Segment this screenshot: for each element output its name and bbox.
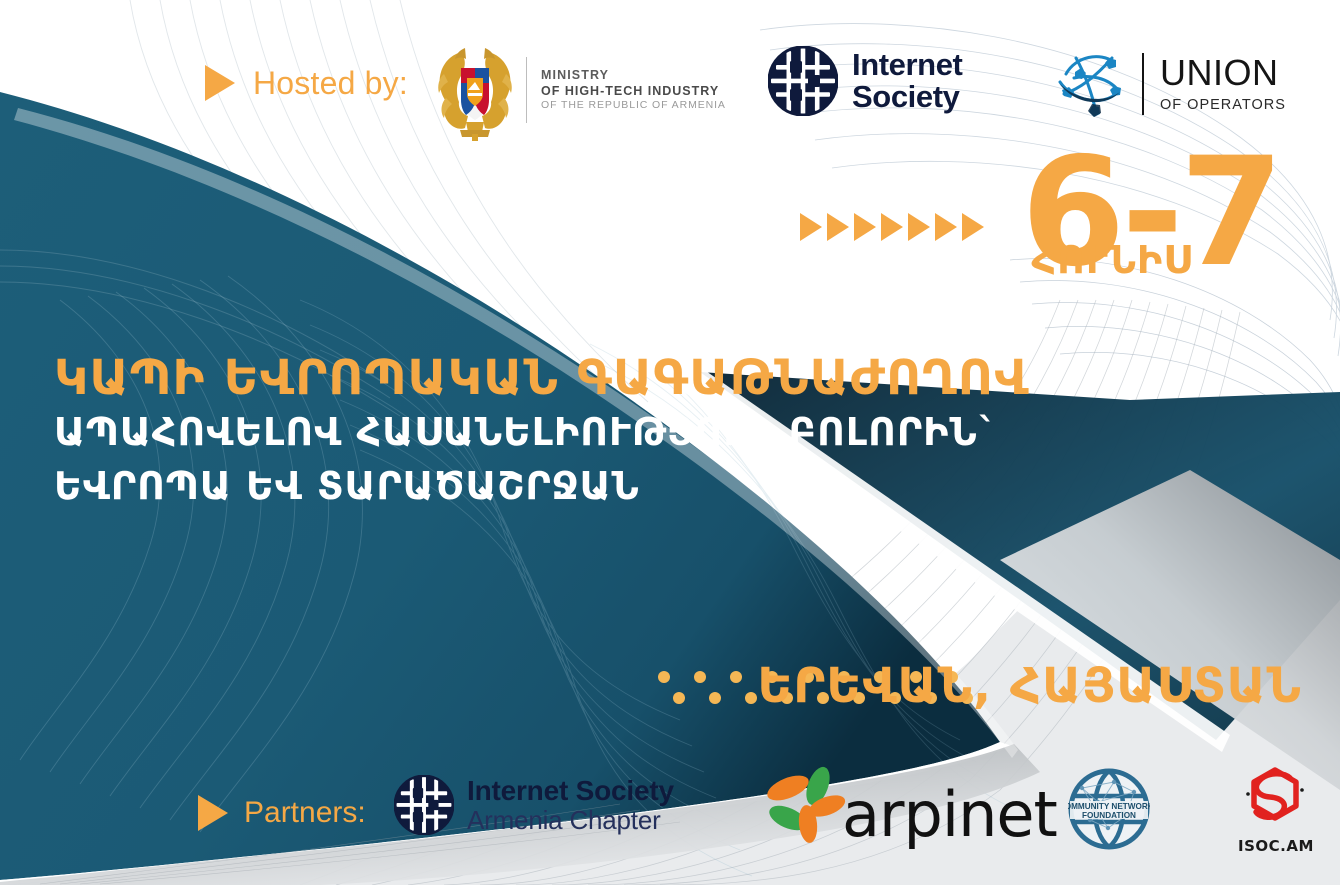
union-line-2: OF OPERATORS	[1160, 98, 1286, 113]
chapter-line-2: Armenia Chapter	[467, 806, 674, 835]
isoc-am-logo: ISOC.AM	[1238, 766, 1314, 855]
arpinet-logo: arpinet	[762, 766, 1057, 848]
event-date-block: 6-7 ՀՈՒՆԻՍ	[1021, 150, 1280, 276]
flower-petals-icon	[762, 766, 848, 848]
arrow-icon	[881, 213, 903, 241]
arrow-strip	[800, 213, 984, 241]
cnf-line-1: COMMUNITY NETWORKS	[1068, 802, 1150, 811]
dot	[709, 692, 721, 704]
isoc-armenia-text: Internet Society Armenia Chapter	[467, 776, 674, 834]
triangle-icon	[205, 65, 235, 101]
arrow-icon	[962, 213, 984, 241]
armenia-coat-of-arms-icon	[432, 38, 518, 142]
partners-label: Partners:	[244, 796, 366, 830]
headline-line-2: ԱՊԱՀՈՎԵԼՈՎ ՀԱՍԱՆԵԼԻՈՒԹՅՈՒՆ ԲՈԼՈՐԻՆ`	[54, 406, 1030, 460]
isoc-armenia-chapter-logo: Internet Society Armenia Chapter	[394, 775, 674, 835]
globe-icon	[394, 775, 454, 835]
ministry-line-1: MINISTRY	[541, 67, 726, 83]
isoc-am-label: ISOC.AM	[1238, 837, 1314, 855]
union-text: UNION OF OPERATORS	[1160, 55, 1286, 113]
globe-network-icon: COMMUNITY NETWORKS FOUNDATION	[1068, 768, 1150, 850]
event-month: ՀՈՒՆԻՍ	[1031, 238, 1192, 282]
isoc-line-1: Internet	[852, 49, 962, 81]
arrow-icon	[854, 213, 876, 241]
ministry-line-2: OF HIGH-TECH INDUSTRY	[541, 83, 726, 99]
internet-society-logo-block: Internet Society	[768, 46, 962, 116]
dot	[658, 671, 670, 683]
community-networks-foundation-logo: COMMUNITY NETWORKS FOUNDATION	[1068, 768, 1150, 855]
chapter-line-1: Internet Society	[467, 776, 674, 806]
headline-line-1: ԿԱՊԻ ԵՎՐՈՊԱԿԱՆ ԳԱԳԱԹՆԱԺՈՂՈՎ	[54, 352, 1030, 406]
arrow-icon	[827, 213, 849, 241]
ministry-text: MINISTRY OF HIGH-TECH INDUSTRY OF THE RE…	[541, 67, 726, 112]
globe-icon	[768, 46, 838, 116]
hosted-by-label: Hosted by:	[253, 65, 408, 102]
triangle-icon	[198, 795, 228, 831]
union-of-operators-logo-block: UNION OF OPERATORS	[1052, 48, 1286, 120]
ministry-line-3: OF THE REPUBLIC OF ARMENIA	[541, 99, 726, 112]
headline-block: ԿԱՊԻ ԵՎՐՈՊԱԿԱՆ ԳԱԳԱԹՆԱԺՈՂՈՎ ԱՊԱՀՈՎԵԼՈՎ Հ…	[54, 352, 1030, 514]
event-location: ԵՐԵՎԱՆ, ՀԱՅԱՍՏԱՆ	[757, 658, 1302, 714]
internet-society-text: Internet Society	[852, 49, 962, 112]
s-hexagon-icon	[1244, 766, 1308, 828]
hosted-by-row: Hosted by:	[205, 52, 408, 114]
arrow-icon	[935, 213, 957, 241]
divider	[526, 57, 527, 123]
partners-row: Partners:	[198, 785, 366, 841]
isoc-line-2: Society	[852, 81, 962, 113]
arrow-icon	[908, 213, 930, 241]
union-line-1: UNION	[1160, 55, 1286, 91]
ministry-logo-block: MINISTRY OF HIGH-TECH INDUSTRY OF THE RE…	[432, 38, 726, 142]
cnf-line-2: FOUNDATION	[1082, 811, 1136, 820]
network-nodes-icon	[1052, 48, 1130, 120]
dot	[694, 671, 706, 683]
dot	[745, 692, 757, 704]
poster-canvas: Hosted by:	[0, 0, 1340, 885]
arrow-icon	[800, 213, 822, 241]
dot	[730, 671, 742, 683]
headline-line-3: ԵՎՐՈՊԱ ԵՎ ՏԱՐԱԾԱՇՐՋԱՆ	[54, 460, 1030, 514]
arpinet-wordmark: arpinet	[842, 784, 1057, 846]
divider	[1142, 53, 1144, 115]
dot	[673, 692, 685, 704]
